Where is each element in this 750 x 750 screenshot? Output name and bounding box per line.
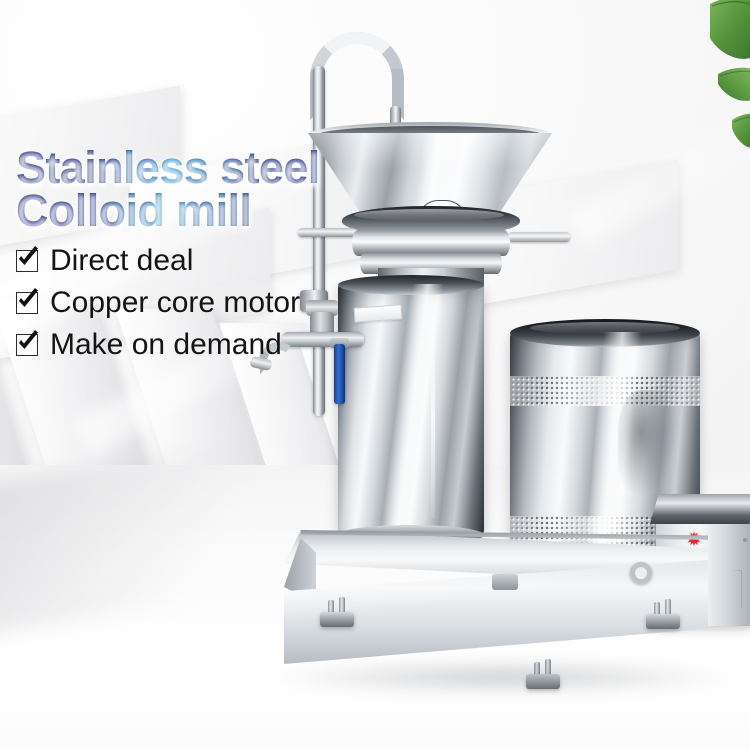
motor-mount-bolt: [492, 574, 518, 590]
junction-box-screw: [743, 538, 747, 542]
headline-line-2: Colloid mill: [16, 189, 346, 232]
colloid-mill-product-image: ✹: [238, 22, 750, 750]
feature-list: Direct deal Copper core motor Make on de…: [16, 246, 346, 360]
clamp-top-highlight: [354, 209, 504, 221]
promo-banner: ✹ Stainless steel Colloid mill: [0, 0, 750, 750]
anchor-foot: [646, 604, 680, 630]
contact-shadow: [266, 658, 736, 696]
list-item: Make on demand: [16, 330, 346, 360]
checkbox-checked-icon: [16, 333, 41, 358]
feature-label: Copper core motor: [50, 288, 300, 318]
junction-box-lid: [650, 494, 750, 524]
clamp-handle-right: [508, 232, 570, 242]
list-item: Direct deal: [16, 246, 346, 276]
list-item: Copper core motor: [16, 288, 346, 318]
feature-label: Make on demand: [50, 330, 282, 360]
page-title: Stainless steel Colloid mill: [16, 146, 346, 232]
promo-copy: Stainless steel Colloid mill Direct deal…: [16, 146, 346, 372]
base-plinth: [284, 530, 708, 670]
checkbox-checked-icon: [16, 291, 41, 316]
lifting-eye-bolt: [630, 562, 652, 584]
anchor-foot: [320, 602, 354, 628]
checkbox-checked-icon: [16, 249, 41, 274]
mill-body-seam: [431, 318, 435, 518]
feature-label: Direct deal: [50, 246, 193, 276]
